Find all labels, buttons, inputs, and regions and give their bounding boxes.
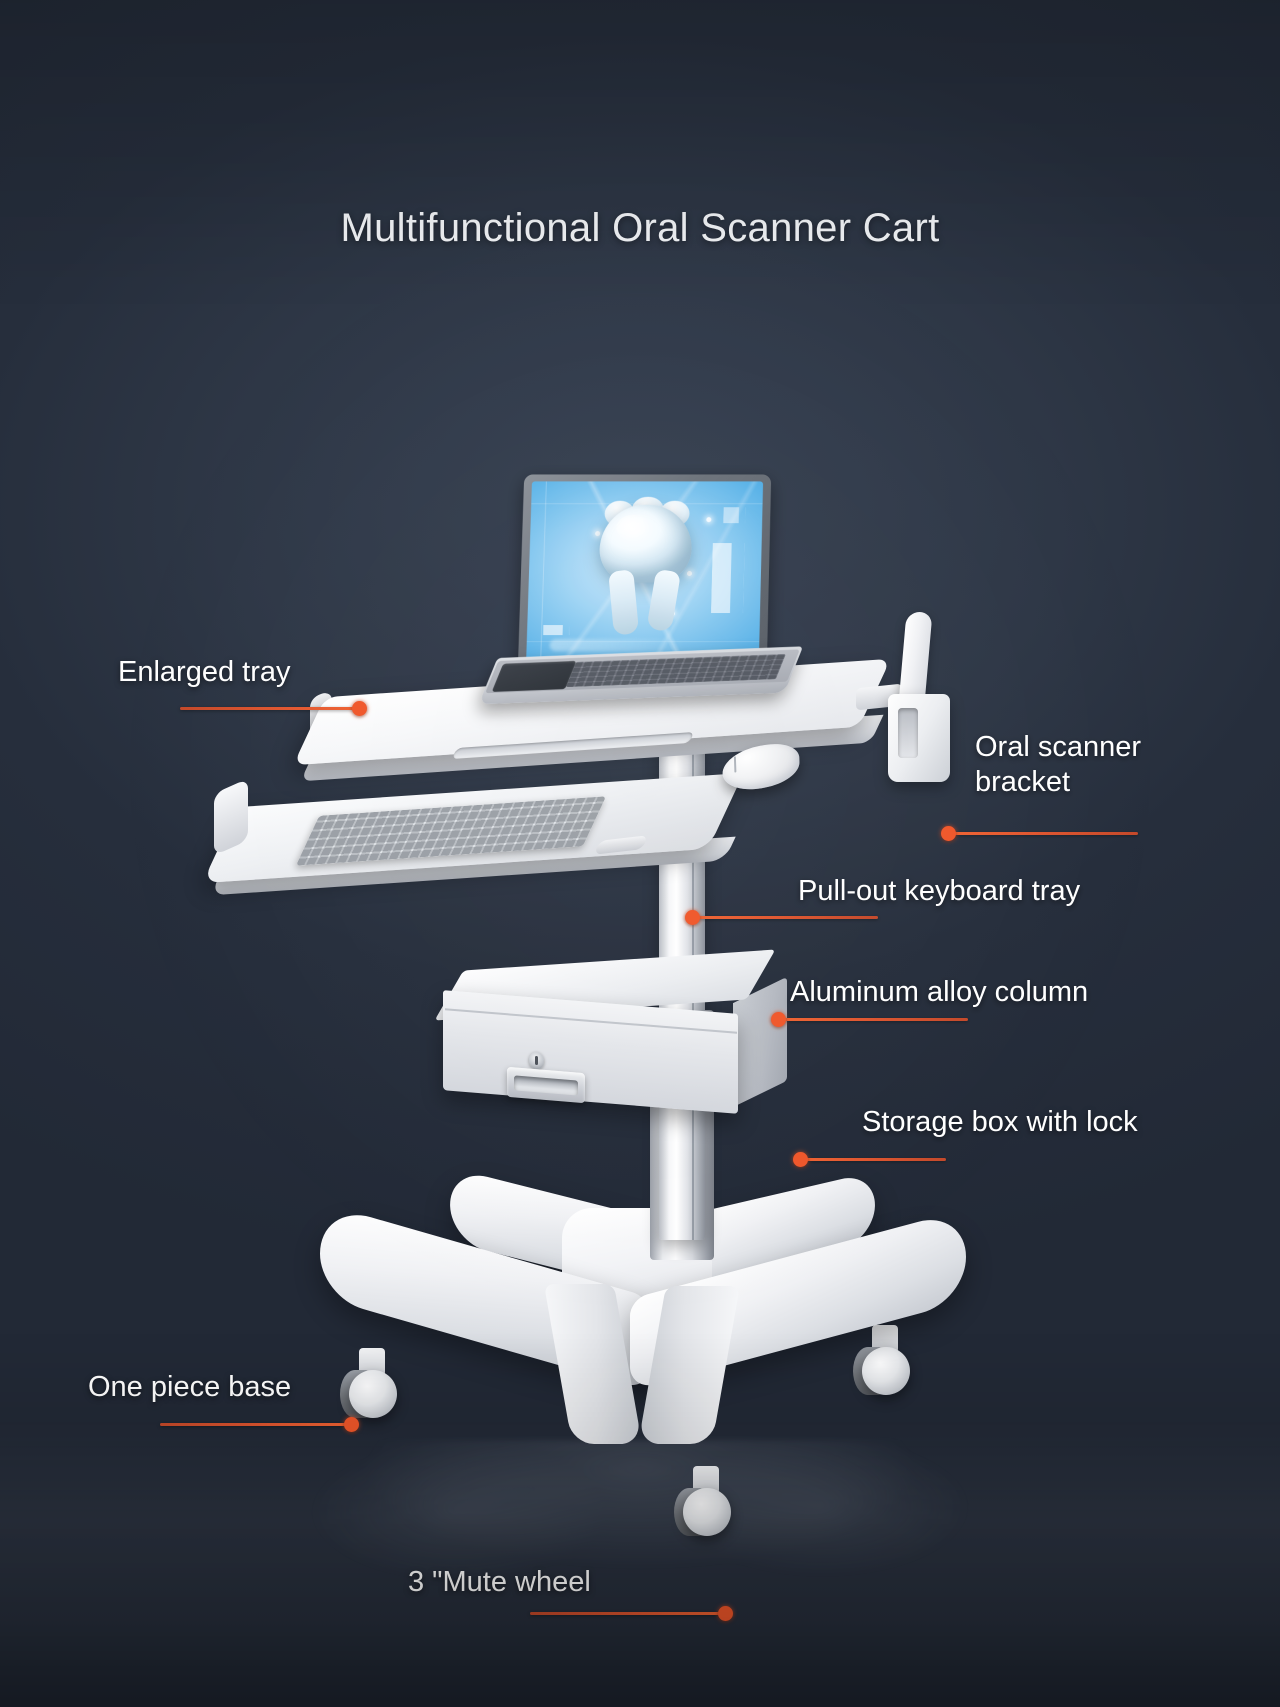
callout-label-enlarged-tray: Enlarged tray: [118, 655, 291, 690]
callout-label-storage-box-with-lock: Storage box with lock: [862, 1105, 1138, 1140]
callout-label-mute-wheel: 3 "Mute wheel: [408, 1565, 591, 1600]
lock-icon: [529, 1051, 544, 1069]
leader-dot-mute-wheel: [718, 1606, 733, 1621]
one-piece-base: [300, 1188, 960, 1448]
product-illustration: [0, 0, 1280, 1707]
screen-bar-chart-top-right: [723, 507, 745, 523]
callout-mute-wheel: 3 "Mute wheel: [408, 1565, 591, 1600]
caster-wheel: [683, 1488, 731, 1536]
leader-dot-oral-scanner-bracket: [941, 826, 956, 841]
pull-out-keyboard-tray: [228, 790, 718, 915]
laptop-screen: [526, 481, 763, 661]
page-title: Multifunctional Oral Scanner Cart: [0, 206, 1280, 251]
leader-dot-aluminum-alloy-column: [771, 1012, 786, 1027]
callout-label-oral-scanner-bracket: Oral scanner bracket: [975, 730, 1141, 801]
screen-bar-chart-right: [711, 543, 745, 613]
leader-line-oral-scanner-bracket: [948, 832, 1138, 835]
oral-scanner-bracket: [886, 612, 958, 784]
laptop: [521, 474, 770, 679]
leader-dot-enlarged-tray: [352, 701, 367, 716]
screen-sweep-bar: [550, 639, 685, 651]
bracket-slot: [898, 708, 918, 758]
leader-line-mute-wheel: [530, 1612, 726, 1615]
mouse-seam: [734, 756, 736, 772]
storage-box: [455, 960, 785, 1120]
drawer-handle: [507, 1067, 585, 1103]
callout-oral-scanner-bracket: Oral scanner bracket: [975, 730, 1141, 801]
keyhole: [535, 1056, 538, 1065]
storage-box-front: [443, 990, 738, 1114]
leader-line-enlarged-tray: [180, 707, 360, 710]
callout-label-aluminum-alloy-column: Aluminum alloy column: [790, 975, 1088, 1010]
callout-label-pull-out-keyboard-tray: Pull-out keyboard tray: [798, 874, 1080, 909]
callout-storage-box-with-lock: Storage box with lock: [862, 1105, 1138, 1140]
callout-pull-out-keyboard-tray: Pull-out keyboard tray: [798, 874, 1080, 909]
screen-label-left: [543, 625, 569, 635]
leader-line-one-piece-base: [160, 1423, 350, 1426]
tooth-icon: [597, 505, 693, 633]
leader-dot-pull-out-keyboard-tray: [685, 910, 700, 925]
callout-label-one-piece-base: One piece base: [88, 1370, 291, 1405]
laptop-keys: [566, 654, 786, 687]
leader-dot-one-piece-base: [344, 1417, 359, 1432]
callout-aluminum-alloy-column: Aluminum alloy column: [790, 975, 1088, 1010]
callout-one-piece-base: One piece base: [88, 1370, 291, 1405]
leader-line-aluminum-alloy-column: [778, 1018, 968, 1021]
leader-line-storage-box-with-lock: [800, 1158, 946, 1161]
leader-dot-storage-box-with-lock: [793, 1152, 808, 1167]
infographic-canvas: Multifunctional Oral Scanner Cart: [0, 0, 1280, 1707]
laptop-lid: [518, 474, 771, 670]
drawer-handle-recess: [514, 1075, 578, 1095]
laptop-keyboard-deck: [485, 649, 800, 693]
leader-line-pull-out-keyboard-tray: [692, 916, 878, 919]
laptop-trackpad: [492, 661, 577, 692]
callout-enlarged-tray: Enlarged tray: [118, 655, 291, 690]
